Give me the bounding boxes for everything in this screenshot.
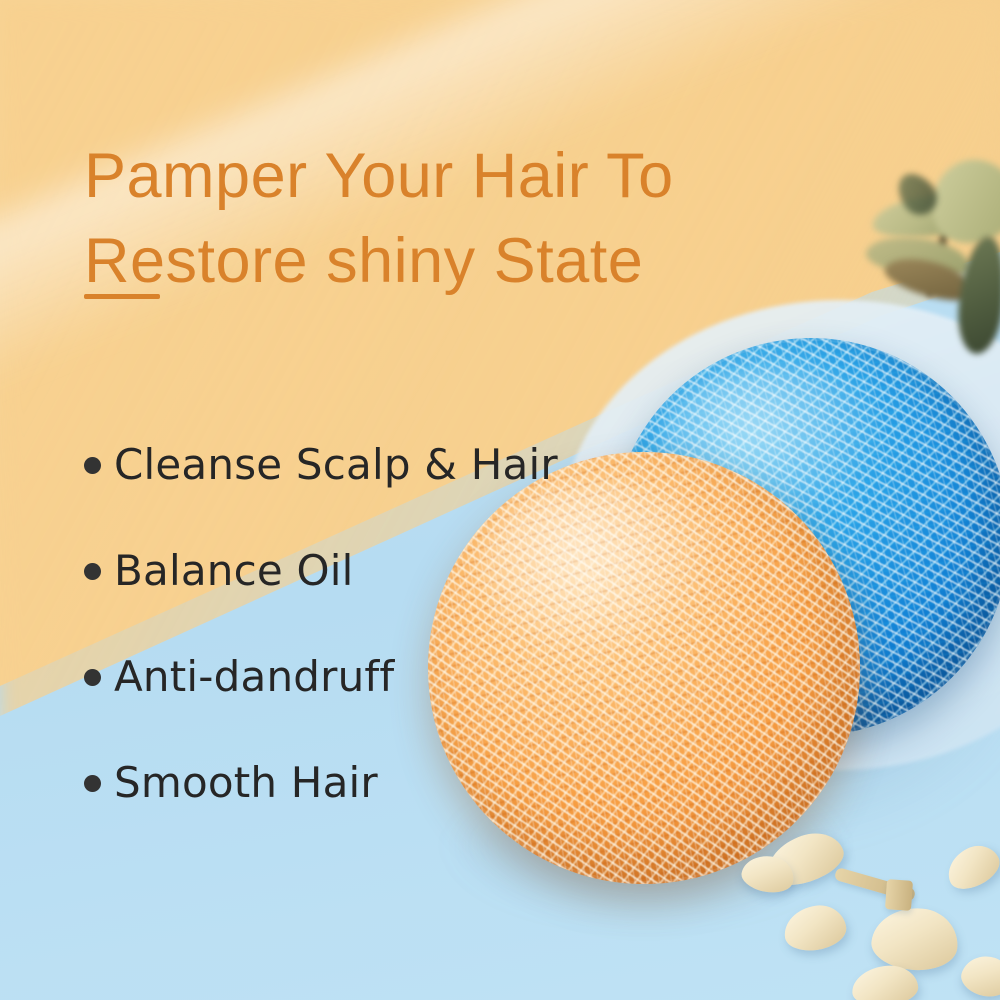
- flower-stem: [885, 879, 913, 911]
- list-item: Balance Oil: [84, 518, 644, 624]
- product-feature-banner: Pamper Your Hair To Restore shiny State …: [0, 0, 1000, 1000]
- benefit-label: Anti-dandruff: [114, 656, 394, 698]
- benefit-label: Balance Oil: [114, 550, 353, 592]
- page-title: Pamper Your Hair To Restore shiny State: [84, 134, 894, 303]
- list-item: Smooth Hair: [84, 730, 644, 836]
- dot-bullet-icon: [84, 775, 101, 792]
- dot-bullet-icon: [84, 563, 101, 580]
- list-item: Cleanse Scalp & Hair: [84, 412, 644, 518]
- dot-bullet-icon: [84, 669, 101, 686]
- title-divider: [84, 294, 160, 299]
- benefits-list: Cleanse Scalp & Hair Balance Oil Anti-da…: [84, 412, 644, 836]
- dot-bullet-icon: [84, 457, 101, 474]
- benefit-label: Smooth Hair: [114, 762, 378, 804]
- list-item: Anti-dandruff: [84, 624, 644, 730]
- benefit-label: Cleanse Scalp & Hair: [114, 444, 558, 486]
